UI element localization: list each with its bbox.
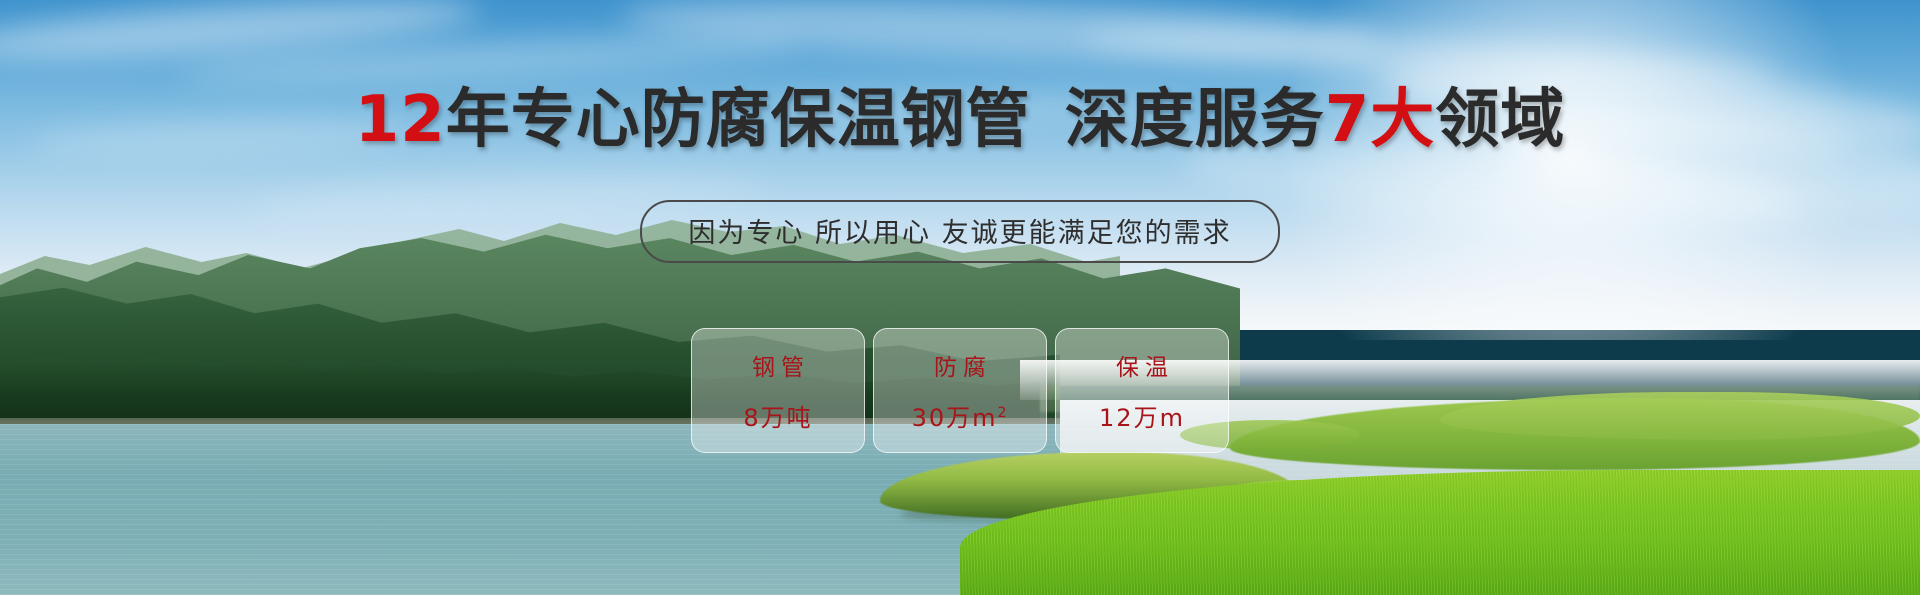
stat-label: 防腐 [928, 348, 992, 382]
headline: 12年专心防腐保温钢管深度服务7大领域 [0, 88, 1920, 152]
stat-value-base: 8万吨 [743, 404, 812, 432]
subtitle-container: 因为专心 所以用心 友诚更能满足您的需求 [0, 200, 1920, 263]
stat-card-insulation: 保温 12万m [1055, 328, 1229, 453]
headline-main-text: 年专心防腐保温钢管 [446, 83, 1031, 157]
headline-service-text: 深度服务 [1065, 83, 1325, 157]
stat-value: 30万m2 [912, 398, 1009, 433]
stat-value-exponent: 2 [998, 405, 1009, 421]
headline-fields-number: 7大 [1325, 83, 1436, 157]
stats-card-group: 钢管 8万吨 防腐 30万m2 保温 12万m [0, 328, 1920, 453]
stat-card-steel-pipe: 钢管 8万吨 [691, 328, 865, 453]
banner-content: 12年专心防腐保温钢管深度服务7大领域 因为专心 所以用心 友诚更能满足您的需求… [0, 0, 1920, 595]
stat-card-anticorrosion: 防腐 30万m2 [873, 328, 1047, 453]
stat-value-base: 30万m [912, 404, 998, 432]
stat-value-base: 12万m [1099, 404, 1185, 432]
subtitle-pill: 因为专心 所以用心 友诚更能满足您的需求 [640, 200, 1279, 263]
headline-years-number: 12 [355, 83, 446, 157]
headline-fields-text: 领域 [1435, 83, 1565, 157]
stat-value: 8万吨 [743, 398, 812, 433]
stat-value: 12万m [1099, 398, 1185, 433]
stat-label: 钢管 [746, 348, 810, 382]
stat-label: 保温 [1110, 348, 1174, 382]
promo-banner: 12年专心防腐保温钢管深度服务7大领域 因为专心 所以用心 友诚更能满足您的需求… [0, 0, 1920, 595]
